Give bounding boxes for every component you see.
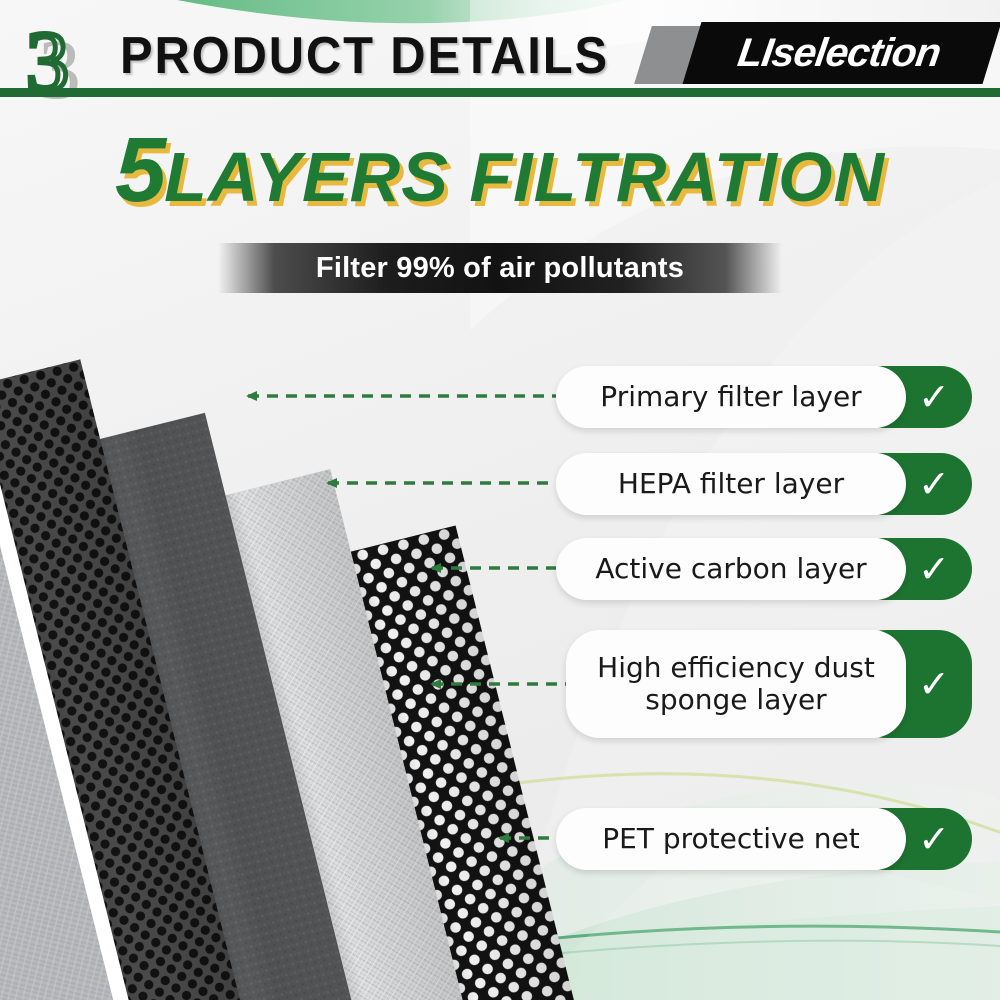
layer-label-2: HEPA filter layer xyxy=(618,468,844,500)
check-icon: ✓ xyxy=(918,378,950,416)
layer-pill-5[interactable]: ✓ PET protective net xyxy=(556,808,972,870)
check-icon: ✓ xyxy=(918,550,950,588)
layer-pill-4[interactable]: ✓ High efficiency dust sponge layer xyxy=(566,630,972,738)
check-icon: ✓ xyxy=(918,465,950,503)
product-details-infographic: 3 3 PRODUCT DETAILS LIselection 5LAYERS … xyxy=(0,0,1000,1000)
layer-label-1: Primary filter layer xyxy=(600,381,861,413)
layer-label-3: Active carbon layer xyxy=(595,553,866,585)
check-icon: ✓ xyxy=(918,820,950,858)
layer-label-4: High efficiency dust sponge layer xyxy=(597,652,875,716)
layer-label-box-5: PET protective net xyxy=(556,808,906,870)
layer-label-box-2: HEPA filter layer xyxy=(556,453,906,515)
check-icon: ✓ xyxy=(918,665,950,703)
layer-pill-1[interactable]: ✓ Primary filter layer xyxy=(556,366,972,428)
layer-label-box-3: Active carbon layer xyxy=(556,538,906,600)
layer-pill-2[interactable]: ✓ HEPA filter layer xyxy=(556,453,972,515)
connector-arrowheads xyxy=(246,391,509,843)
layer-pill-3[interactable]: ✓ Active carbon layer xyxy=(556,538,972,600)
layer-label-box-1: Primary filter layer xyxy=(556,366,906,428)
layer-label-box-4: High efficiency dust sponge layer xyxy=(566,630,906,738)
layer-label-5: PET protective net xyxy=(602,823,859,855)
